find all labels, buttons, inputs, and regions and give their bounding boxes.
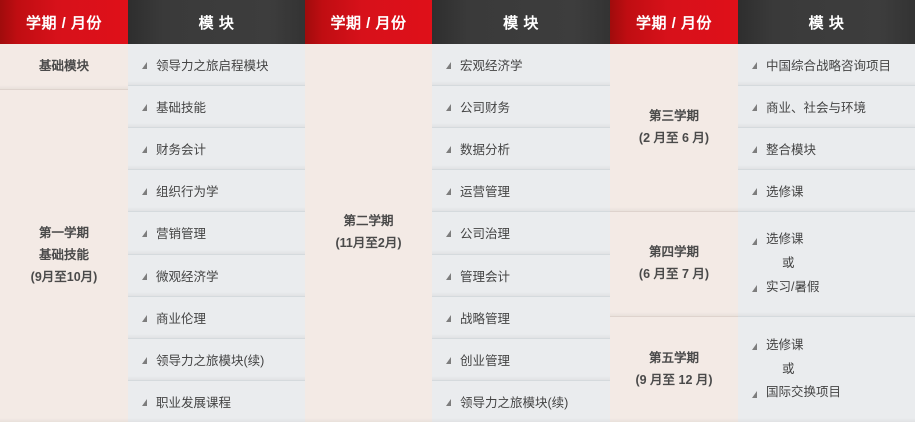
module-item[interactable]: 商业、社会与环境	[738, 86, 915, 128]
module-option[interactable]: 选修课	[752, 228, 804, 252]
triangle-bullet-icon	[446, 230, 451, 237]
module-item-label: 公司财务	[460, 97, 510, 116]
module-item[interactable]: 领导力之旅模块(续)	[128, 339, 305, 381]
module-option[interactable]: 选修课	[752, 334, 804, 358]
header-term-1: 学期 / 月份	[0, 0, 128, 44]
term-cell-semester-4: 第四学期 (6 月至 7 月)	[610, 212, 738, 317]
module-item-label: 商业伦理	[156, 308, 206, 327]
term-cell-line: (9 月至 12 月)	[635, 370, 712, 392]
triangle-bullet-icon	[142, 273, 147, 280]
module-item-label: 领导力之旅模块(续)	[156, 350, 264, 369]
term-column-3-body: 第三学期 (2 月至 6 月) 第四学期 (6 月至 7 月) 第五学期 (9 …	[610, 44, 738, 422]
module-item-label: 运营管理	[460, 181, 510, 200]
module-item[interactable]: 整合模块	[738, 128, 915, 170]
module-item-label: 选修课	[766, 334, 804, 358]
module-item-label: 整合模块	[766, 139, 816, 158]
triangle-bullet-icon	[446, 188, 451, 195]
term-cell-semester-2: 第二学期 (11月至2月)	[305, 44, 432, 422]
term-cell-line: (6 月至 7 月)	[639, 264, 709, 286]
module-item-label: 管理会计	[460, 266, 510, 285]
module-item[interactable]: 运营管理	[432, 170, 610, 212]
module-column-3-body: 中国综合战略咨询项目 商业、社会与环境 整合模块 选修课 选修课 或	[738, 44, 915, 422]
term-cell-semester-5: 第五学期 (9 月至 12 月)	[610, 317, 738, 422]
module-item-label: 数据分析	[460, 139, 510, 158]
triangle-bullet-icon	[752, 238, 757, 245]
module-item[interactable]: 职业发展课程	[128, 381, 305, 422]
module-option[interactable]: 实习/暑假	[752, 276, 819, 300]
term-column-1: 学期 / 月份 基础模块 第一学期 基础技能 (9月至10月)	[0, 0, 128, 422]
triangle-bullet-icon	[142, 315, 147, 322]
module-item-label: 组织行为学	[156, 181, 219, 200]
term-column-1-body: 基础模块 第一学期 基础技能 (9月至10月)	[0, 44, 128, 422]
header-module-2: 模 块	[432, 0, 610, 44]
term-column-3: 学期 / 月份 第三学期 (2 月至 6 月) 第四学期 (6 月至 7 月) …	[610, 0, 738, 422]
term-cell-line: 第五学期	[649, 348, 699, 370]
module-item-elective-exchange[interactable]: 选修课 或 国际交换项目	[738, 317, 915, 422]
module-item[interactable]: 商业伦理	[128, 297, 305, 339]
module-item[interactable]: 选修课	[738, 170, 915, 212]
module-item[interactable]: 战略管理	[432, 297, 610, 339]
triangle-bullet-icon	[142, 230, 147, 237]
triangle-bullet-icon	[142, 399, 147, 406]
module-item-label: 宏观经济学	[460, 55, 523, 74]
term-column-2: 学期 / 月份 第二学期 (11月至2月)	[305, 0, 432, 422]
module-item[interactable]: 宏观经济学	[432, 44, 610, 86]
module-item-label: 领导力之旅启程模块	[156, 55, 269, 74]
term-cell-line: 第三学期	[649, 106, 699, 128]
triangle-bullet-icon	[446, 273, 451, 280]
triangle-bullet-icon	[752, 104, 757, 111]
triangle-bullet-icon	[142, 146, 147, 153]
module-item-label: 选修课	[766, 181, 804, 200]
triangle-bullet-icon	[752, 391, 757, 398]
module-item[interactable]: 公司财务	[432, 86, 610, 128]
term-cell-line: 基础技能	[39, 245, 89, 267]
term-cell-line: (9月至10月)	[31, 267, 98, 289]
module-item[interactable]: 领导力之旅模块(续)	[432, 381, 610, 422]
module-column-3: 模 块 中国综合战略咨询项目 商业、社会与环境 整合模块 选修课	[738, 0, 915, 422]
header-term-2: 学期 / 月份	[305, 0, 432, 44]
term-cell-line: (2 月至 6 月)	[639, 128, 709, 150]
module-item-label: 国际交换项目	[766, 381, 841, 405]
module-item[interactable]: 领导力之旅启程模块	[128, 44, 305, 86]
term-cell-line: 第四学期	[649, 242, 699, 264]
module-option-separator: 或	[752, 252, 795, 276]
module-item-label: 公司治理	[460, 223, 510, 242]
module-item-label: 商业、社会与环境	[766, 97, 866, 116]
module-item[interactable]: 中国综合战略咨询项目	[738, 44, 915, 86]
module-item-label: 创业管理	[460, 350, 510, 369]
module-item-label: 领导力之旅模块(续)	[460, 392, 568, 411]
triangle-bullet-icon	[142, 188, 147, 195]
triangle-bullet-icon	[446, 62, 451, 69]
triangle-bullet-icon	[752, 188, 757, 195]
module-column-1: 模 块 领导力之旅启程模块 基础技能 财务会计 组织行为学 营销管理	[128, 0, 305, 422]
module-item[interactable]: 管理会计	[432, 255, 610, 297]
triangle-bullet-icon	[446, 104, 451, 111]
module-item-label: 职业发展课程	[156, 392, 231, 411]
module-item[interactable]: 创业管理	[432, 339, 610, 381]
triangle-bullet-icon	[446, 399, 451, 406]
header-module-1: 模 块	[128, 0, 305, 44]
module-item[interactable]: 基础技能	[128, 86, 305, 128]
triangle-bullet-icon	[752, 62, 757, 69]
triangle-bullet-icon	[752, 285, 757, 292]
module-item[interactable]: 组织行为学	[128, 170, 305, 212]
triangle-bullet-icon	[752, 343, 757, 350]
module-item-label: 营销管理	[156, 223, 206, 242]
curriculum-table: 学期 / 月份 基础模块 第一学期 基础技能 (9月至10月) 模 块 领导力之…	[0, 0, 915, 422]
header-term-3: 学期 / 月份	[610, 0, 738, 44]
module-option-separator: 或	[752, 358, 795, 382]
module-item-elective-internship[interactable]: 选修课 或 实习/暑假	[738, 212, 915, 317]
term-cell-line: (11月至2月)	[336, 233, 402, 255]
module-column-1-body: 领导力之旅启程模块 基础技能 财务会计 组织行为学 营销管理 微观经济学	[128, 44, 305, 422]
triangle-bullet-icon	[142, 104, 147, 111]
module-item[interactable]: 财务会计	[128, 128, 305, 170]
module-item[interactable]: 公司治理	[432, 212, 610, 254]
module-item-label: 中国综合战略咨询项目	[766, 55, 891, 74]
module-item[interactable]: 数据分析	[432, 128, 610, 170]
triangle-bullet-icon	[446, 357, 451, 364]
term-cell-line: 基础模块	[39, 56, 89, 78]
module-option[interactable]: 国际交换项目	[752, 381, 841, 405]
triangle-bullet-icon	[142, 62, 147, 69]
term-cell-semester-3: 第三学期 (2 月至 6 月)	[610, 44, 738, 212]
module-item-label: 战略管理	[460, 308, 510, 327]
term-cell-line: 第二学期	[343, 211, 393, 233]
module-item-label: 基础技能	[156, 97, 206, 116]
module-item[interactable]: 微观经济学	[128, 255, 305, 297]
module-item-label: 选修课	[766, 228, 804, 252]
module-item-label: 财务会计	[156, 139, 206, 158]
module-column-2-body: 宏观经济学 公司财务 数据分析 运营管理 公司治理 管理会计	[432, 44, 610, 422]
triangle-bullet-icon	[446, 146, 451, 153]
triangle-bullet-icon	[752, 146, 757, 153]
triangle-bullet-icon	[142, 357, 147, 364]
term-column-2-body: 第二学期 (11月至2月)	[305, 44, 432, 422]
module-column-2: 模 块 宏观经济学 公司财务 数据分析 运营管理 公司治理	[432, 0, 610, 422]
module-item-label: 实习/暑假	[766, 276, 819, 300]
header-module-3: 模 块	[738, 0, 915, 44]
term-cell-foundation: 基础模块	[0, 44, 128, 90]
module-item[interactable]: 营销管理	[128, 212, 305, 254]
term-cell-line: 第一学期	[39, 223, 89, 245]
module-item-label: 微观经济学	[156, 266, 219, 285]
triangle-bullet-icon	[446, 315, 451, 322]
term-cell-semester-1: 第一学期 基础技能 (9月至10月)	[0, 90, 128, 422]
